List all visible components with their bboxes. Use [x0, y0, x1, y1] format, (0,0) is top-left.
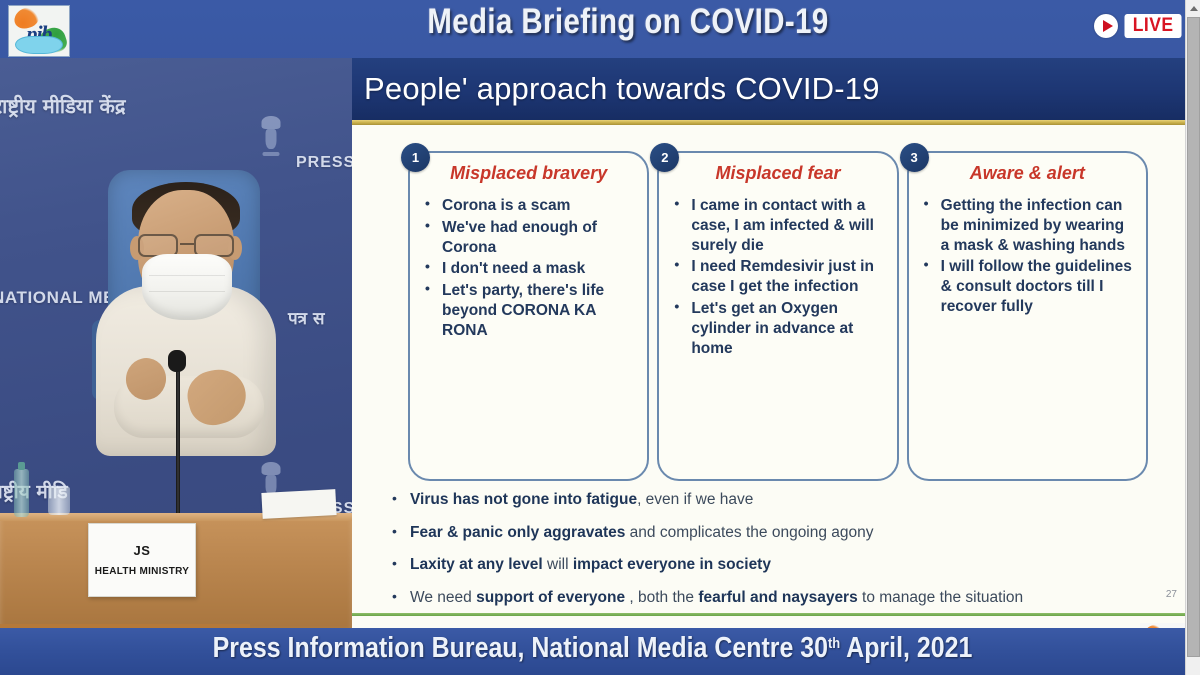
- note-text: and complicates the ongoing agony: [625, 524, 873, 541]
- presentation-slide: People' approach towards COVID-19 1 Misp…: [352, 58, 1185, 628]
- slide-header-bar: People' approach towards COVID-19: [352, 58, 1185, 120]
- broadcast-footer-bar: Press Information Bureau, National Media…: [0, 628, 1185, 675]
- backdrop-english-press-upper: PRESS: [296, 154, 352, 172]
- card-title: Misplaced fear: [665, 163, 890, 184]
- slide-page-number: 27: [1166, 589, 1177, 600]
- list-item: Let's party, there's life beyond CORONA …: [422, 281, 637, 340]
- card-bullet-list: I came in contact with a case, I am infe…: [665, 196, 890, 359]
- approach-card-aware-and-alert: 3 Aware & alert Getting the infection ca…: [907, 151, 1148, 481]
- card-title: Aware & alert: [915, 163, 1140, 184]
- scrollbar-thumb[interactable]: [1187, 17, 1200, 657]
- footer-accent-stripe: [0, 624, 250, 628]
- backdrop-hindi-national-media-centre: राष्ट्रीय मीडिया केंद्र: [0, 92, 126, 119]
- page-scrollbar[interactable]: [1185, 0, 1200, 675]
- note-emphasis: support of everyone: [476, 589, 625, 606]
- speaker-nameplate: JS HEALTH MINISTRY: [88, 523, 196, 597]
- list-item: Let's get an Oxygen cylinder in advance …: [671, 299, 886, 358]
- note-text: We need: [410, 589, 476, 606]
- nameplate-designation: JS: [134, 543, 151, 558]
- nameplate-ministry: HEALTH MINISTRY: [95, 566, 190, 577]
- slide-title: People' approach towards COVID-19: [352, 71, 880, 107]
- card-number-badge: 3: [900, 143, 929, 172]
- note-emphasis: Fear & panic only aggravates: [410, 524, 625, 541]
- footer-date: April, 2021: [840, 632, 972, 664]
- approach-cards-row: 1 Misplaced bravery Corona is a scam We'…: [408, 151, 1148, 481]
- papers-on-desk: [261, 489, 336, 519]
- approach-card-misplaced-bravery: 1 Misplaced bravery Corona is a scam We'…: [408, 151, 649, 481]
- list-item: Corona is a scam: [422, 196, 637, 216]
- footer-venue: Press Information Bureau, National Media…: [213, 632, 828, 664]
- card-bullet-list: Getting the infection can be minimized b…: [915, 196, 1140, 317]
- pib-logo-icon: pib: [8, 5, 70, 57]
- play-icon: [1094, 14, 1118, 38]
- backdrop-english-national-media: NATIONAL ME: [0, 288, 115, 308]
- note-emphasis: Laxity at any level: [410, 556, 543, 573]
- list-item: I need Remdesivir just in case I get the…: [671, 257, 886, 297]
- water-bottle: [14, 469, 29, 517]
- list-item: Fear & panic only aggravates and complic…: [382, 524, 1172, 543]
- note-text: , both the: [625, 589, 698, 606]
- slide-body: 1 Misplaced bravery Corona is a scam We'…: [352, 125, 1185, 628]
- live-label: LIVE: [1124, 14, 1181, 38]
- note-text: , even if we have: [637, 491, 753, 508]
- mask-graphic-icon: [15, 36, 63, 54]
- live-badge: LIVE: [1094, 14, 1184, 38]
- list-item: I will follow the guidelines & consult d…: [921, 257, 1136, 316]
- list-item: We need support of everyone , both the f…: [382, 589, 1172, 608]
- card-bullet-list: Corona is a scam We've had enough of Cor…: [416, 196, 641, 341]
- card-number-badge: 1: [401, 143, 430, 172]
- microphone-stand: [176, 358, 180, 530]
- note-text: to manage the situation: [858, 589, 1023, 606]
- list-item: Laxity at any level will impact everyone…: [382, 556, 1172, 575]
- microphone-icon: [168, 350, 186, 372]
- broadcast-top-banner: pib Media Briefing on COVID-19: [0, 0, 1185, 60]
- scroll-up-arrow-icon[interactable]: [1186, 0, 1200, 16]
- date-ordinal-suffix: th: [828, 635, 840, 652]
- card-title: Misplaced bravery: [416, 163, 641, 184]
- slide-summary-notes: Virus has not gone into fatigue, even if…: [382, 491, 1172, 621]
- list-item: I came in contact with a case, I am infe…: [671, 196, 886, 255]
- footer-caption: Press Information Bureau, National Media…: [83, 632, 1102, 665]
- list-item: We've had enough of Corona: [422, 218, 637, 258]
- list-item: Virus has not gone into fatigue, even if…: [382, 491, 1172, 510]
- broadcast-screen: राष्ट्रीय मीडिया केंद्र NATIONAL ME राष्…: [0, 0, 1200, 675]
- face-mask: [142, 254, 232, 320]
- drinking-glass: [48, 487, 70, 515]
- live-video-pane[interactable]: राष्ट्रीय मीडिया केंद्र NATIONAL ME राष्…: [0, 58, 352, 628]
- list-item: Getting the infection can be minimized b…: [921, 196, 1136, 255]
- approach-card-misplaced-fear: 2 Misplaced fear I came in contact with …: [657, 151, 898, 481]
- list-item: I don't need a mask: [422, 259, 637, 279]
- note-emphasis: impact everyone in society: [573, 556, 771, 573]
- backdrop-hindi-patra: पत्र स: [288, 306, 324, 329]
- press-desk: JS HEALTH MINISTRY: [0, 513, 352, 628]
- note-emphasis: fearful and naysayers: [698, 589, 857, 606]
- note-text: will: [543, 556, 573, 573]
- ashoka-emblem-icon: [258, 116, 284, 158]
- green-divider-rule: [352, 613, 1185, 616]
- program-title: Media Briefing on COVID-19: [410, 2, 847, 42]
- note-emphasis: Virus has not gone into fatigue: [410, 491, 637, 508]
